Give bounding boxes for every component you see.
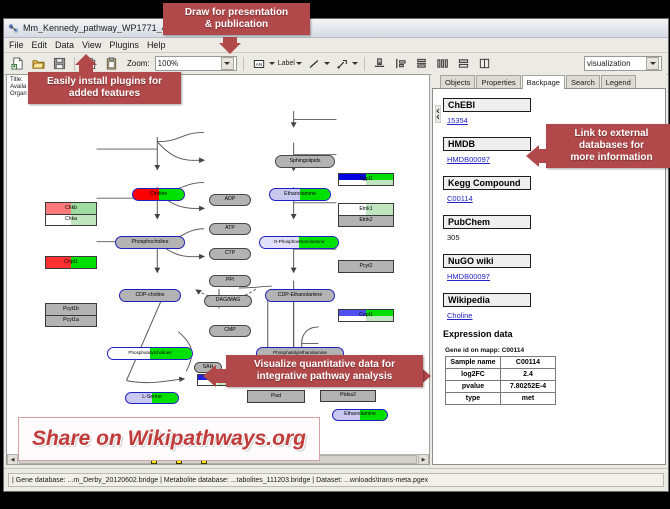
wikipedia-link[interactable]: Choline [447,311,665,320]
datanode-tool[interactable]: AN [250,55,275,73]
meta-title: Title: [10,77,27,84]
common-height-icon[interactable] [476,55,494,73]
callout-visualize-arrow-left [203,365,216,387]
node-cept1[interactable]: Cept1 [338,309,394,322]
paste-icon[interactable] [102,55,120,73]
menu-item-file[interactable]: File [9,40,24,50]
backpage-heading-hmdb: HMDB [443,137,531,151]
node-label: O-Phosphoethanolamine [274,240,325,245]
align-bottom-icon[interactable] [371,55,389,73]
node-phosphocholine[interactable]: Phosphocholine [115,236,185,249]
node-adp[interactable]: ADP [209,194,251,206]
callout-line: added features [35,88,174,100]
new-document-icon[interactable] [8,55,26,73]
node-label: Pisd [271,394,281,399]
node-cdp-choline[interactable]: CDP-choline [119,289,181,302]
meta-organism: Organ [10,91,27,98]
node-label: Ptdss2 [340,393,356,398]
backpage-heading-pubchem: PubChem [443,215,531,229]
node-label: Chkb [65,206,77,211]
callout-line: databases for [553,140,670,152]
line-icon[interactable] [305,55,323,73]
callout-line: Visualize quantitative data for [233,359,416,371]
common-width-icon[interactable] [455,55,473,73]
screenshot-root: Mm_Kennedy_pathway_WP1771_45176.gpml Fil… [0,0,670,509]
menu-item-help[interactable]: Help [147,40,166,50]
stack-center-y-icon[interactable] [413,55,431,73]
callout-visualize: Visualize quantitative data for integrat… [226,355,423,387]
kegg-link[interactable]: C00114 [447,194,665,203]
node-o-phosphoethanolamine[interactable]: O-Phosphoethanolamine [259,236,339,249]
app-icon [8,23,19,34]
node-atp[interactable]: ATP [209,223,251,235]
menu-item-data[interactable]: Data [55,40,74,50]
node-label: Chka [65,217,77,222]
node-sphingolipids[interactable]: Sphingolipids [275,155,335,168]
row-key: log2FC [446,369,501,381]
node-cdp-ethanolamine[interactable]: CDP-Ethanolamine [265,289,335,302]
share-text: Share on Wikipathways.org [32,427,306,451]
panel-collapse-handle[interactable] [435,105,441,123]
node-pcyt1b[interactable]: Pcyt1b [45,303,97,315]
chevron-down-icon[interactable] [296,62,302,65]
chevron-down-icon[interactable] [324,62,330,65]
meta-availability: Availa [10,84,27,91]
node-label: Pcyt1b [63,307,79,312]
svg-text:AN: AN [255,61,262,67]
table-row: pvalue 7.80252E-4 [446,381,556,393]
node-label: Pcyt1a [63,318,79,323]
callout-draw: Draw for presentation & publication [163,3,310,35]
row-value: 7.80252E-4 [501,381,556,393]
distribute-x-icon[interactable] [434,55,452,73]
callout-line: Draw for presentation [170,7,303,19]
node-label: Sgpl1 [359,177,372,182]
zoom-value: 100% [158,59,221,68]
callout-draw-arrow [219,43,241,54]
node-label: Etnk1 [359,207,372,212]
tab-legend[interactable]: Legend [601,75,636,88]
node-etnk1[interactable]: Etnk1 [338,203,394,215]
node-phosphatidylcholines[interactable]: Phosphatidylcholines [107,347,193,360]
node-pcyt1a[interactable]: Pcyt1a [45,315,97,327]
callout-line: Easily install plugins for [35,76,174,88]
chevron-down-icon[interactable] [646,57,659,70]
label-tool-text: Label [278,60,295,67]
tab-properties[interactable]: Properties [476,75,520,88]
node-label: CDP-choline [135,293,164,298]
node-label: L-Serine [142,395,162,400]
table-row: log2FC 2.4 [446,369,556,381]
title-bar: Mm_Kennedy_pathway_WP1771_45176.gpml [4,19,668,38]
callout-plugins: Easily install plugins for added feature… [28,72,181,104]
nugo-link[interactable]: HMDB00097 [447,272,665,281]
interaction-tool[interactable] [333,55,358,73]
callout-share: Share on Wikipathways.org [18,417,320,461]
node-label: Phosphatidylcholines [128,351,171,356]
node-label: CMP [224,328,236,333]
callout-plugins-arrow [75,54,97,65]
backpage-heading-kegg: Kegg Compound [443,176,531,190]
node-pisd[interactable]: Pisd [247,390,305,403]
node-label: CTP [225,251,235,256]
table-row: Sample name C00114 [446,357,556,369]
node-chkb[interactable]: Chkb [45,202,97,214]
row-key: pvalue [446,381,501,393]
callout-external-db-arrow [526,145,539,167]
callout-external-db: Link to external databases for more info… [546,124,670,168]
toolbar-separator [243,57,244,71]
zoom-label: Zoom: [127,59,150,68]
node-ctp[interactable]: CTP [209,248,251,260]
table-row: type met [446,393,556,405]
gene-id-on-mapp: Gene id on mapp: C00114 [445,347,665,354]
row-value: C00114 [501,357,556,369]
callout-line: & publication [170,19,303,31]
visualization-combo[interactable]: visualization [584,56,662,71]
node-dagmag[interactable]: DAG/MAG [204,295,252,307]
node-label: PPi [226,278,234,283]
side-panel-tabs: Objects Properties Backpage Search Legen… [432,74,666,89]
callout-line: Link to external [553,128,670,140]
expression-table: Sample name C00114 log2FC 2.4 pvalue 7.8… [445,356,556,405]
pubchem-value: 305 [447,233,665,242]
status-text: | Gene database: ...m_Derby_20120602.bri… [8,473,664,487]
node-label: ATP [225,226,235,231]
expression-data-title: Expression data [443,329,665,339]
row-value: 2.4 [501,369,556,381]
node-label: Etnk2 [359,218,372,223]
node-chka[interactable]: Chka [45,214,97,226]
node-label: Ethanolamine [284,192,316,197]
node-ethanolamine-top[interactable]: Ethanolamine [269,188,331,201]
callout-line: more information [553,152,670,164]
node-l-serine-left[interactable]: L-Serine [125,392,179,404]
backpage-heading-wikipedia: Wikipedia [443,293,531,307]
node-sgpl1[interactable]: Sgpl1 [338,173,394,186]
menu-item-plugins[interactable]: Plugins [109,40,139,50]
node-ppi[interactable]: PPi [209,275,251,287]
scroll-left-arrow[interactable]: ◀ [7,454,18,465]
tab-backpage[interactable]: Backpage [522,75,565,89]
node-etnk2[interactable]: Etnk2 [338,215,394,227]
node-label: Ethanolamine [344,412,376,417]
backpage-heading-nugo: NuGO wiki [443,254,531,268]
node-ptdss2[interactable]: Ptdss2 [320,390,376,402]
node-cmp[interactable]: CMP [209,325,251,337]
backpage-heading-chebi: ChEBI [443,98,531,112]
node-label: CDP-Ethanolamine [278,293,322,298]
node-ethanolamine-right[interactable]: Ethanolamine [332,409,388,421]
menu-item-edit[interactable]: Edit [32,40,48,50]
status-bar: | Gene database: ...m_Derby_20120602.bri… [4,468,668,491]
node-label: DAG/MAG [216,298,241,303]
node-chpt1[interactable]: Chpt1 [45,256,97,269]
open-folder-icon[interactable] [29,55,47,73]
scroll-right-arrow[interactable]: ▶ [418,454,429,465]
interaction-icon[interactable] [333,55,351,73]
save-disk-icon[interactable] [50,55,68,73]
row-key: type [446,393,501,405]
node-label: Sphingolipids [290,159,321,164]
menu-bar: File Edit Data View Plugins Help [4,38,668,53]
tab-search[interactable]: Search [566,75,600,88]
chevron-down-icon[interactable] [221,57,234,70]
row-key: Sample name [446,357,501,369]
zoom-combo[interactable]: 100% [155,56,237,71]
node-pcyt2[interactable]: Pcyt2 [338,260,394,273]
label-tool[interactable]: Label [278,60,302,67]
chevron-down-icon[interactable] [352,62,358,65]
callout-line: integrative pathway analysis [233,371,416,383]
datanode-icon[interactable]: AN [250,55,268,73]
line-tool[interactable] [305,55,330,73]
tab-objects[interactable]: Objects [440,75,475,88]
node-choline-top[interactable]: Choline [132,188,185,201]
row-value: met [501,393,556,405]
node-label: Choline [150,192,168,197]
node-label: ADP [225,197,236,202]
node-label: Pcyt2 [360,264,373,269]
pathway-canvas[interactable]: Title: Availa Organ [6,74,430,465]
chevron-down-icon[interactable] [269,62,275,65]
menu-item-view[interactable]: View [82,40,101,50]
align-left-icon[interactable] [392,55,410,73]
node-label: Chpt1 [64,260,78,265]
visualization-value: visualization [587,59,646,68]
node-label: Phosphocholine [132,240,169,245]
toolbar-separator [364,57,365,71]
canvas-meta: Title: Availa Organ [10,77,27,98]
node-label: Cept1 [359,313,373,318]
